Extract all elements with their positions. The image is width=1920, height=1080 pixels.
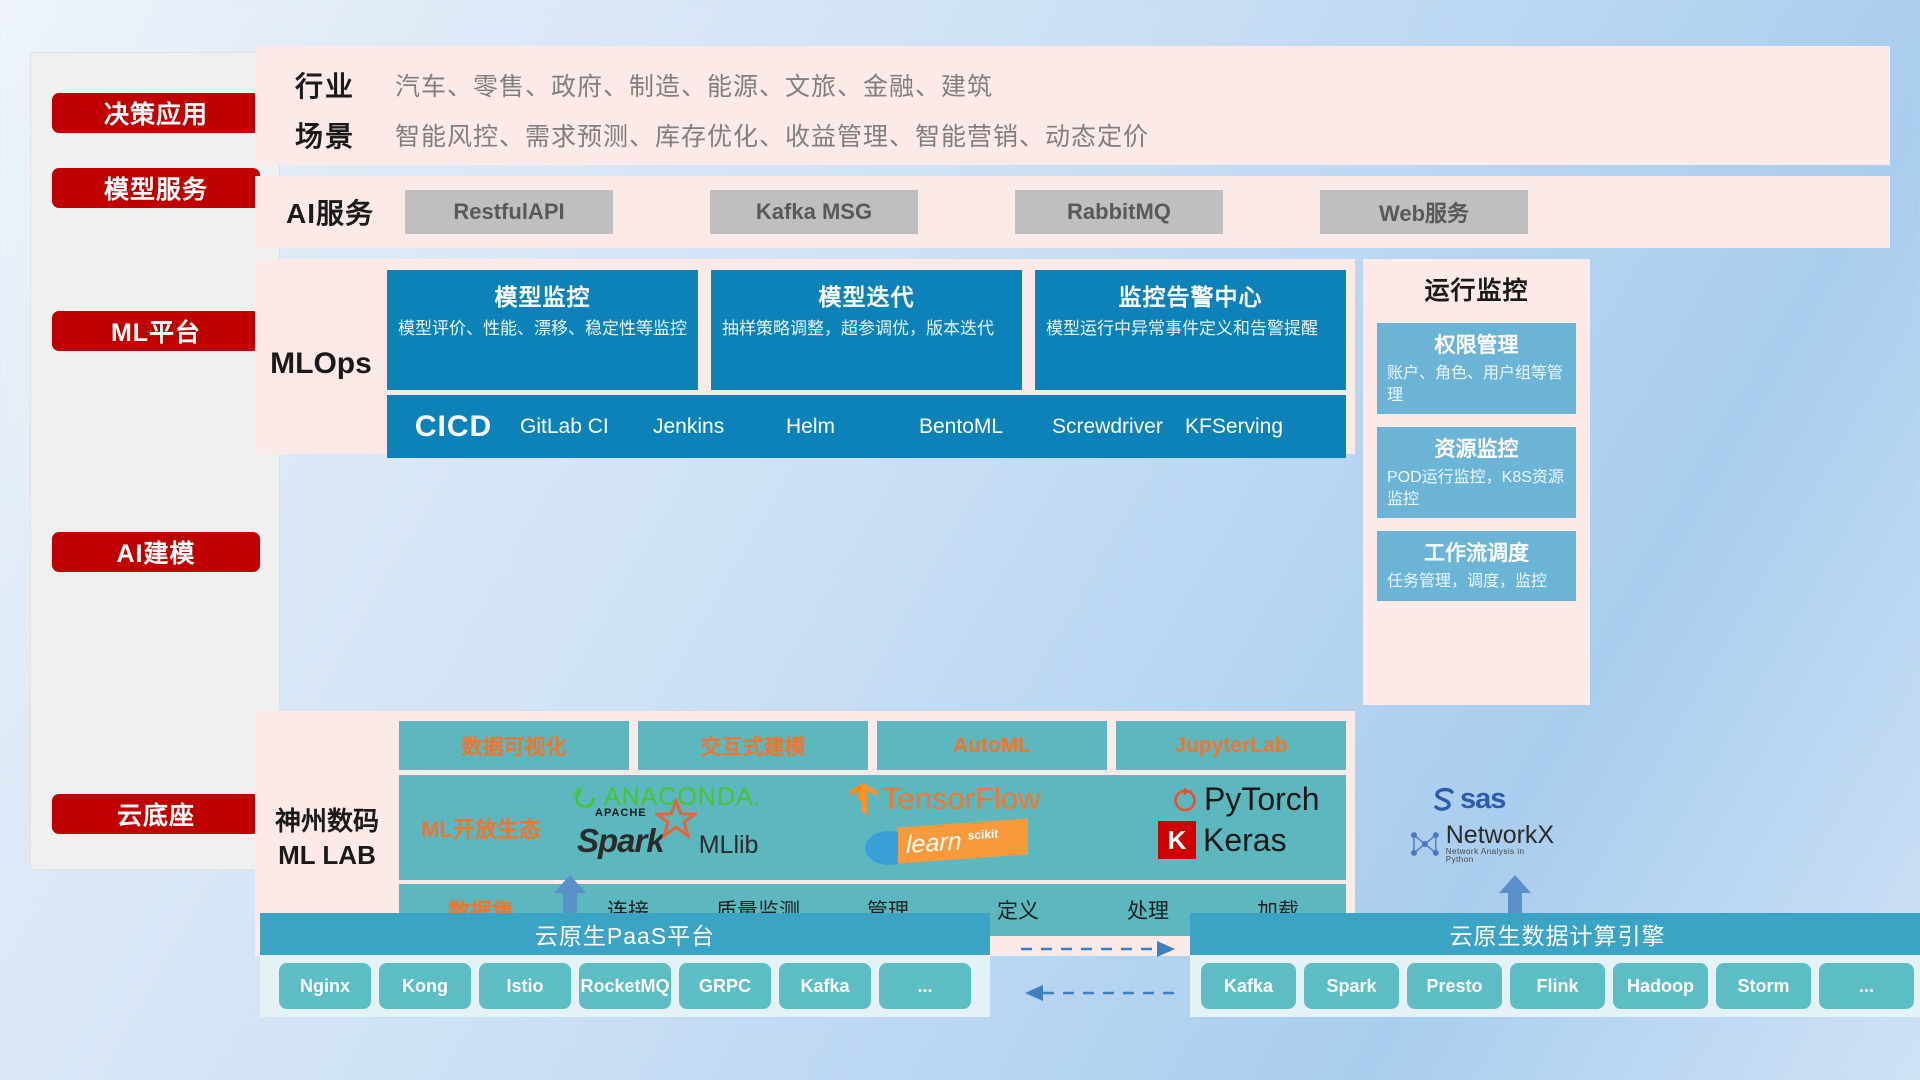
apache-wordmark: APACHE — [595, 807, 647, 819]
ai-service-chip-web-service[interactable]: Web服务 — [1320, 190, 1528, 234]
scenario-label: 场景 — [255, 115, 395, 155]
keras-mark-letter: K — [1168, 825, 1187, 856]
spark-wordmark: Spark — [577, 822, 664, 859]
data-engine-pill-spark[interactable]: Spark — [1304, 963, 1399, 1009]
monitor-card-resource[interactable]: 资源监控 POD运行监控，K8S资源监控 — [1377, 427, 1576, 518]
mlops-band: MLOps 模型监控 模型评价、性能、漂移、稳定性等监控 模型迭代 抽样策略调整… — [255, 259, 1355, 454]
tool-chip-automl[interactable]: AutoML — [877, 721, 1107, 770]
ai-service-chip-kafka-msg[interactable]: Kafka MSG — [710, 190, 918, 234]
card-desc: POD运行监控，K8S资源监控 — [1387, 467, 1566, 510]
monitor-card-permission[interactable]: 权限管理 账户、角色、用户组等管理 — [1377, 323, 1576, 414]
tensorflow-wordmark: TensorFlow — [882, 781, 1041, 817]
sas-logo: sas — [1431, 783, 1505, 816]
ai-service-band: AI服务 RestfulAPI Kafka MSG RabbitMQ Web服务 — [255, 176, 1890, 248]
paas-pill-grpc[interactable]: GRPC — [679, 963, 771, 1009]
keras-logo: K Keras — [1158, 821, 1287, 859]
data-engine-stack: 云原生数据计算引擎 Kafka Spark Presto Flink Hadoo… — [1190, 913, 1920, 1017]
industry-scenario-band: 行业 汽车、零售、政府、制造、能源、文旅、金融、建筑 场景 智能风控、需求预测、… — [255, 46, 1890, 165]
scenario-row: 场景 智能风控、需求预测、库存优化、收益管理、智能营销、动态定价 — [255, 110, 1890, 160]
rail-chip-label: 模型服务 — [104, 170, 208, 206]
industry-label: 行业 — [255, 65, 395, 105]
tool-chip-interactive-modeling[interactable]: 交互式建模 — [638, 721, 868, 770]
networkx-icon — [1408, 827, 1442, 861]
cicd-title: CICD — [387, 410, 520, 444]
card-title: 监控告警中心 — [1046, 278, 1335, 312]
networkx-logo: NetworkX Network Analysis in Python — [1408, 823, 1554, 864]
card-title: 权限管理 — [1387, 329, 1566, 359]
card-desc: 账户、角色、用户组等管理 — [1387, 363, 1566, 406]
mlops-card-list: 模型监控 模型评价、性能、漂移、稳定性等监控 模型迭代 抽样策略调整，超参调优，… — [387, 270, 1346, 390]
card-desc: 模型评价、性能、漂移、稳定性等监控 — [398, 318, 687, 341]
ml-lab-tool-chip-list: 数据可视化 交互式建模 AutoML JupyterLab — [399, 721, 1346, 770]
spark-star-icon — [655, 798, 697, 840]
ml-lab-label-line1: 神州数码 — [275, 805, 379, 839]
sas-icon — [1431, 786, 1457, 814]
cicd-item-bentoml[interactable]: BentoML — [919, 415, 1052, 438]
card-desc: 抽样策略调整，超参调优，版本迭代 — [722, 318, 1011, 341]
rail-chip-ml-platform[interactable]: ML平台 — [52, 311, 260, 351]
apache-spark-mllib-logo: APACHE Spark MLlib — [577, 822, 758, 860]
rail-chip-label: AI建模 — [116, 534, 195, 570]
pytorch-wordmark: PyTorch — [1204, 781, 1320, 818]
scikit-small-wordmark: scikit — [968, 827, 999, 843]
cicd-item-jenkins[interactable]: Jenkins — [653, 415, 786, 438]
cicd-item-screwdriver[interactable]: Screwdriver — [1052, 415, 1185, 438]
ai-service-chip-rabbitmq[interactable]: RabbitMQ — [1015, 190, 1223, 234]
paas-pill-kong[interactable]: Kong — [379, 963, 471, 1009]
data-engine-pill-flink[interactable]: Flink — [1510, 963, 1605, 1009]
paas-pill-istio[interactable]: Istio — [479, 963, 571, 1009]
cicd-item-kfserving[interactable]: KFServing — [1185, 415, 1318, 438]
tool-chip-jupyterlab[interactable]: JupyterLab — [1116, 721, 1346, 770]
mlops-label: MLOps — [255, 270, 387, 458]
data-engine-pill-storm[interactable]: Storm — [1716, 963, 1811, 1009]
networkx-tagline: Network Analysis in Python — [1446, 848, 1555, 864]
mllib-wordmark: MLlib — [699, 831, 759, 860]
card-desc: 模型运行中异常事件定义和告警提醒 — [1046, 318, 1335, 341]
mlops-card-model-monitoring[interactable]: 模型监控 模型评价、性能、漂移、稳定性等监控 — [387, 270, 698, 390]
paas-pill-more[interactable]: ... — [879, 963, 971, 1009]
cicd-bar: CICD GitLab CI Jenkins Helm BentoML Scre… — [387, 395, 1346, 458]
pytorch-logo: PyTorch — [1171, 781, 1320, 818]
ecosystem-logo-area: ANACONDA. TensorFlow — [563, 775, 1346, 880]
card-title: 模型迭代 — [722, 278, 1011, 312]
left-rail: 决策应用 模型服务 ML平台 AI建模 云底座 — [30, 52, 280, 870]
paas-pill-rocketmq[interactable]: RocketMQ — [579, 963, 671, 1009]
mlops-row: MLOps 模型监控 模型评价、性能、漂移、稳定性等监控 模型迭代 抽样策略调整… — [255, 259, 1890, 705]
data-engine-pill-kafka[interactable]: Kafka — [1201, 963, 1296, 1009]
up-arrow-paas-icon — [550, 873, 590, 913]
data-engine-pill-list: Kafka Spark Presto Flink Hadoop Storm ..… — [1190, 955, 1920, 1017]
bidirectional-link-arrows — [1015, 933, 1185, 1009]
cicd-item-helm[interactable]: Helm — [786, 415, 919, 438]
main-column: 行业 汽车、零售、政府、制造、能源、文旅、金融、建筑 场景 智能风控、需求预测、… — [255, 46, 1890, 956]
paas-pill-list: Nginx Kong Istio RocketMQ GRPC Kafka ... — [260, 955, 990, 1017]
data-engine-title: 云原生数据计算引擎 — [1190, 913, 1920, 955]
paas-stack: 云原生PaaS平台 Nginx Kong Istio RocketMQ GRPC… — [260, 913, 990, 1017]
tensorflow-logo: TensorFlow — [848, 781, 1041, 817]
paas-pill-kafka[interactable]: Kafka — [779, 963, 871, 1009]
ml-lab-label-line2: ML LAB — [278, 839, 376, 873]
keras-wordmark: Keras — [1203, 822, 1287, 859]
pytorch-icon — [1171, 785, 1199, 815]
monitor-card-workflow[interactable]: 工作流调度 任务管理，调度，监控 — [1377, 531, 1576, 601]
card-title: 工作流调度 — [1387, 537, 1566, 567]
tool-chip-data-visualization[interactable]: 数据可视化 — [399, 721, 629, 770]
up-arrow-data-engine-icon — [1495, 873, 1535, 913]
rail-chip-ai-modeling[interactable]: AI建模 — [52, 532, 260, 572]
tensorflow-icon — [848, 782, 878, 816]
ml-open-ecosystem-band: ML开放生态 ANACONDA. — [399, 775, 1346, 880]
sas-wordmark: sas — [1460, 783, 1505, 816]
card-title: 资源监控 — [1387, 433, 1566, 463]
rail-chip-decision-app[interactable]: 决策应用 — [52, 93, 260, 133]
rail-chip-label: 云底座 — [117, 796, 195, 832]
cloud-foundation-section: 云原生PaaS平台 Nginx Kong Istio RocketMQ GRPC… — [255, 885, 1920, 1045]
data-engine-pill-presto[interactable]: Presto — [1407, 963, 1502, 1009]
ai-service-label: AI服务 — [255, 192, 405, 232]
arrow-head-right-icon — [1157, 941, 1175, 957]
runtime-monitor-title: 运行监控 — [1377, 271, 1576, 307]
mlops-card-model-iteration[interactable]: 模型迭代 抽样策略调整，超参调优，版本迭代 — [711, 270, 1022, 390]
scenario-value: 智能风控、需求预测、库存优化、收益管理、智能营销、动态定价 — [395, 117, 1149, 153]
ml-open-ecosystem-label: ML开放生态 — [399, 812, 563, 844]
industry-row: 行业 汽车、零售、政府、制造、能源、文旅、金融、建筑 — [255, 60, 1890, 110]
rail-chip-cloud-foundation[interactable]: 云底座 — [52, 794, 260, 834]
data-engine-pill-hadoop[interactable]: Hadoop — [1613, 963, 1708, 1009]
industry-value: 汽车、零售、政府、制造、能源、文旅、金融、建筑 — [395, 67, 993, 103]
rail-chip-model-service[interactable]: 模型服务 — [52, 168, 260, 208]
card-title: 模型监控 — [398, 278, 687, 312]
card-desc: 任务管理，调度，监控 — [1387, 571, 1566, 593]
cicd-item-gitlab-ci[interactable]: GitLab CI — [520, 415, 653, 438]
runtime-monitor-column: 运行监控 权限管理 账户、角色、用户组等管理 资源监控 POD运行监控，K8S资… — [1363, 259, 1590, 705]
ai-service-chip-list: RestfulAPI Kafka MSG RabbitMQ Web服务 — [405, 190, 1528, 234]
data-engine-pill-more[interactable]: ... — [1819, 963, 1914, 1009]
paas-title: 云原生PaaS平台 — [260, 913, 990, 955]
networkx-wordmark: NetworkX — [1446, 823, 1555, 848]
paas-pill-nginx[interactable]: Nginx — [279, 963, 371, 1009]
ai-service-chip-restfulapi[interactable]: RestfulAPI — [405, 190, 613, 234]
scikit-orange-band: learn scikit — [898, 818, 1028, 863]
arrow-head-left-icon — [1025, 985, 1043, 1001]
rail-chip-label: 决策应用 — [104, 95, 208, 131]
rail-chip-label: ML平台 — [111, 313, 201, 349]
keras-mark-icon: K — [1158, 821, 1196, 859]
mlops-card-alert-center[interactable]: 监控告警中心 模型运行中异常事件定义和告警提醒 — [1035, 270, 1346, 390]
scikit-learn-wordmark: learn — [906, 827, 962, 860]
